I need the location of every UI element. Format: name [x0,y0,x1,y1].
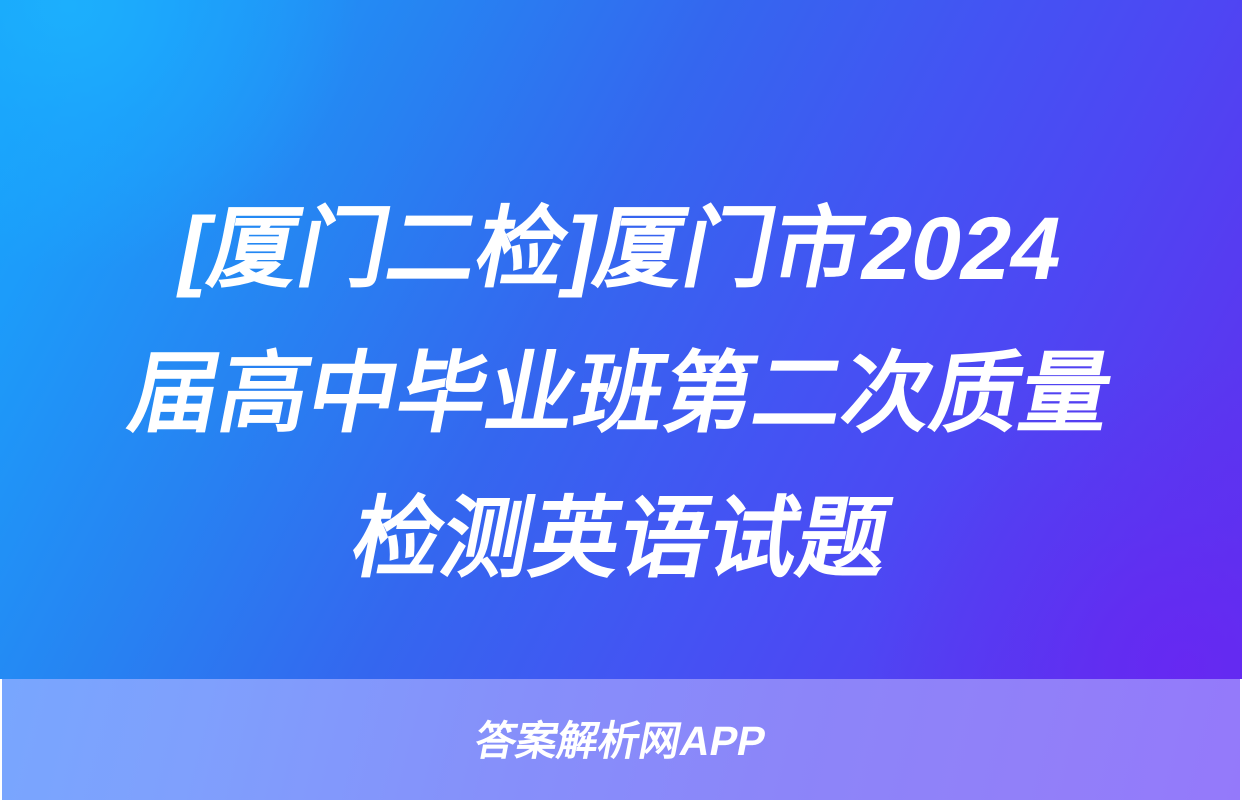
title-line-2: 届高中毕业班第二次质量 [10,321,1232,466]
footer-brand-band: 答案解析网APP [2,679,1240,800]
title-line-3: 检测英语试题 [10,466,1232,611]
title-card: [厦门二检]厦门市2024 届高中毕业班第二次质量 检测英语试题 答案解析网AP… [0,0,1242,800]
page-title: [厦门二检]厦门市2024 届高中毕业班第二次质量 检测英语试题 [0,176,1242,611]
title-line-1: [厦门二检]厦门市2024 [10,176,1232,321]
brand-watermark-label: 答案解析网APP [472,721,769,762]
